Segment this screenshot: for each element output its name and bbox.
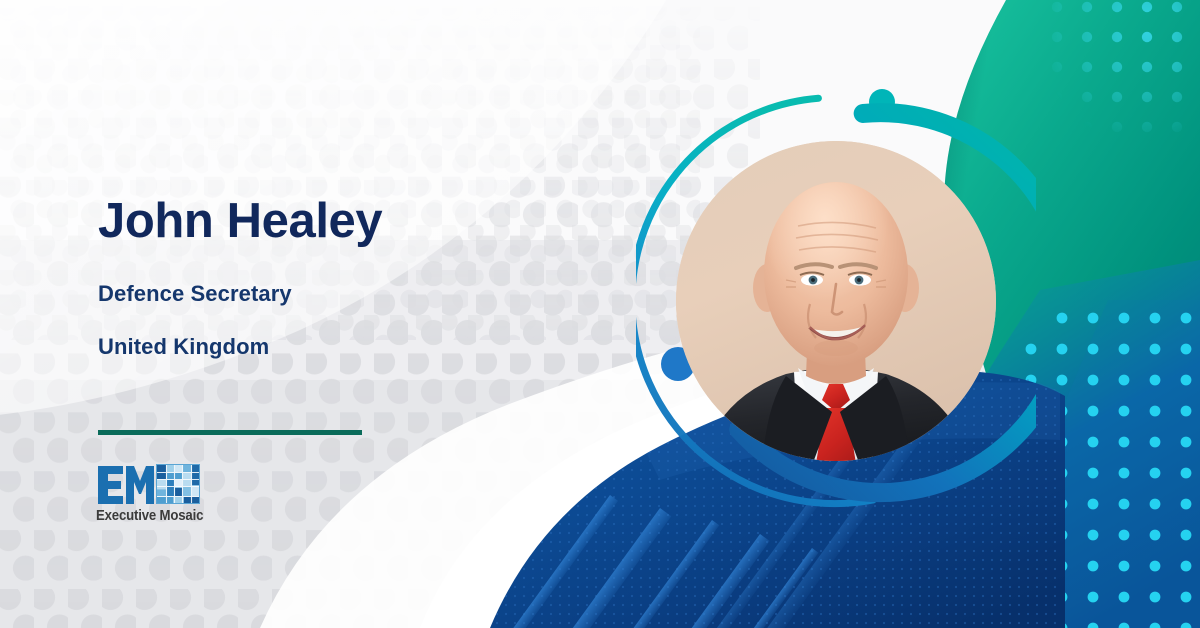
portrait-ring	[636, 76, 1036, 516]
person-country: United Kingdom	[98, 334, 568, 360]
mosaic-grid-icon	[156, 464, 200, 504]
executive-mosaic-logo[interactable]: Executive Mosaic	[96, 464, 218, 526]
brand-wordmark: Executive Mosaic	[96, 507, 203, 524]
portrait-group	[636, 76, 1036, 516]
portrait-photo	[676, 141, 996, 476]
page-title: John Healey	[98, 196, 568, 247]
person-role: Defence Secretary	[98, 281, 568, 307]
divider-rule	[98, 430, 362, 435]
text-block: John Healey Defence Secretary United Kin…	[98, 196, 568, 360]
em-monogram-icon	[96, 464, 156, 506]
promo-card: John Healey Defence Secretary United Kin…	[0, 0, 1200, 628]
